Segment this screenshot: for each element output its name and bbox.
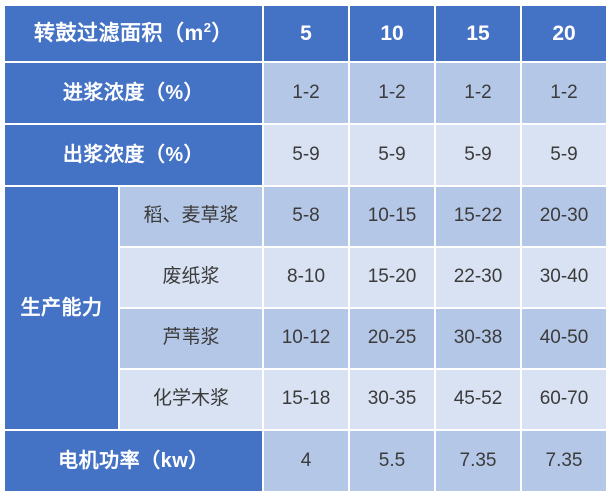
sublabel-waste-paper-pulp: 废纸浆	[120, 248, 262, 307]
cell-reed-4: 40-50	[522, 309, 606, 368]
header-col-3: 15	[436, 6, 520, 61]
cell-power-4: 7.35	[522, 431, 606, 491]
row-label-outlet-consistency: 出浆浓度（%）	[5, 125, 262, 185]
cell-straw-1: 5-8	[264, 187, 348, 246]
cell-power-1: 4	[264, 431, 348, 491]
cell-waste-1: 8-10	[264, 248, 348, 307]
cell-outlet-3: 5-9	[436, 125, 520, 185]
cell-reed-1: 10-12	[264, 309, 348, 368]
cell-outlet-1: 5-9	[264, 125, 348, 185]
header-filter-area-label: 转鼓过滤面积（m2）	[5, 6, 262, 61]
cell-waste-2: 15-20	[350, 248, 434, 307]
table-row: 进浆浓度（%） 1-2 1-2 1-2 1-2	[5, 63, 606, 123]
cell-straw-3: 15-22	[436, 187, 520, 246]
sublabel-reed-pulp: 芦苇浆	[120, 309, 262, 368]
cell-reed-3: 30-38	[436, 309, 520, 368]
row-label-inlet-consistency: 进浆浓度（%）	[5, 63, 262, 123]
header-label-tail: ）	[211, 22, 233, 45]
cell-wood-2: 30-35	[350, 370, 434, 429]
cell-outlet-2: 5-9	[350, 125, 434, 185]
cell-inlet-2: 1-2	[350, 63, 434, 123]
table-row: 生产能力 稻、麦草浆 5-8 10-15 15-22 20-30	[5, 187, 606, 246]
cell-inlet-1: 1-2	[264, 63, 348, 123]
row-label-production-capacity: 生产能力	[5, 187, 118, 429]
cell-power-3: 7.35	[436, 431, 520, 491]
cell-inlet-4: 1-2	[522, 63, 606, 123]
cell-wood-4: 60-70	[522, 370, 606, 429]
cell-waste-3: 22-30	[436, 248, 520, 307]
cell-wood-1: 15-18	[264, 370, 348, 429]
cell-power-2: 5.5	[350, 431, 434, 491]
cell-waste-4: 30-40	[522, 248, 606, 307]
table-row: 出浆浓度（%） 5-9 5-9 5-9 5-9	[5, 125, 606, 185]
sublabel-rice-wheat-straw-pulp: 稻、麦草浆	[120, 187, 262, 246]
cell-inlet-3: 1-2	[436, 63, 520, 123]
row-label-motor-power: 电机功率（kw）	[5, 431, 262, 491]
header-col-2: 10	[350, 6, 434, 61]
table-row: 电机功率（kw） 4 5.5 7.35 7.35	[5, 431, 606, 491]
table-header-row: 转鼓过滤面积（m2） 5 10 15 20	[5, 6, 606, 61]
header-label-base: 转鼓过滤面积（m	[34, 22, 204, 45]
cell-wood-3: 45-52	[436, 370, 520, 429]
cell-straw-4: 20-30	[522, 187, 606, 246]
specification-table: 转鼓过滤面积（m2） 5 10 15 20 进浆浓度（%） 1-2 1-2 1-…	[3, 4, 608, 493]
header-col-4: 20	[522, 6, 606, 61]
cell-reed-2: 20-25	[350, 309, 434, 368]
cell-straw-2: 10-15	[350, 187, 434, 246]
cell-outlet-4: 5-9	[522, 125, 606, 185]
sublabel-chemical-wood-pulp: 化学木浆	[120, 370, 262, 429]
header-col-1: 5	[264, 6, 348, 61]
